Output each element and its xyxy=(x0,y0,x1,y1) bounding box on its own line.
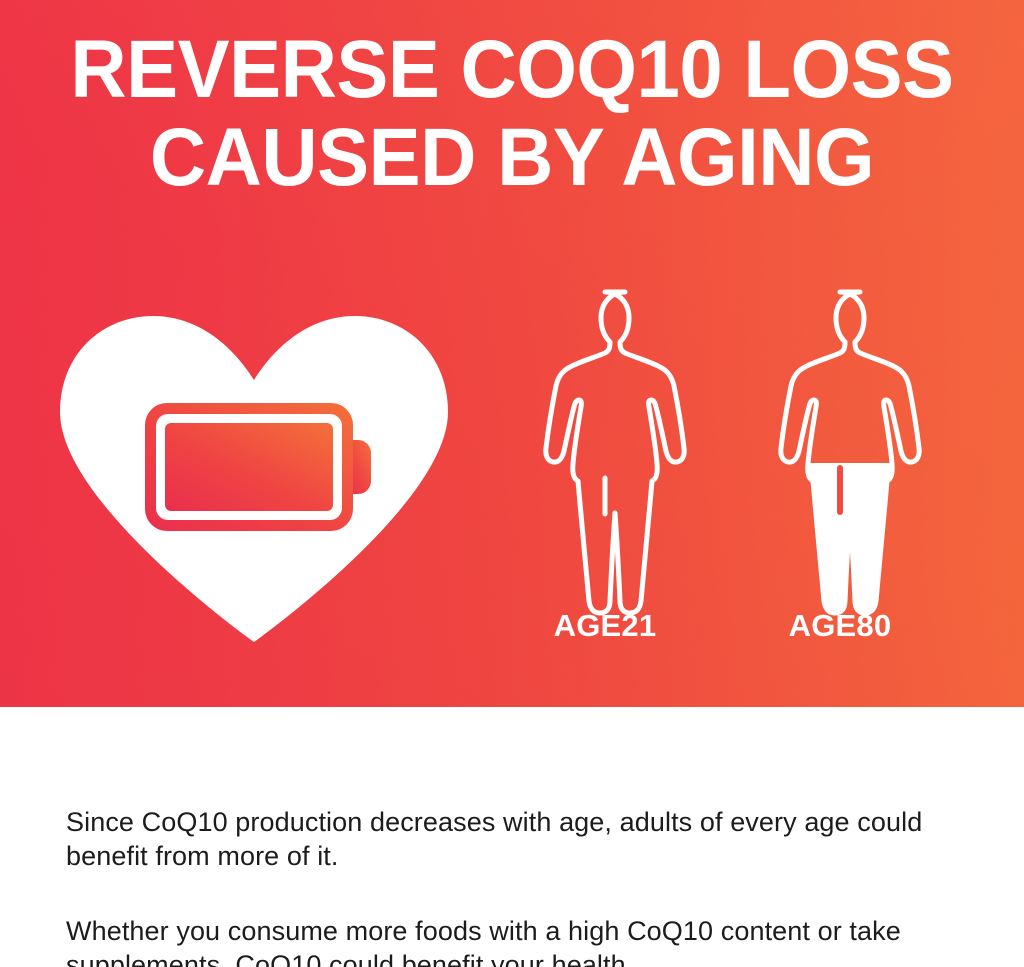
body-paragraph-2: Whether you consume more foods with a hi… xyxy=(66,914,972,967)
body-copy-section: Since CoQ10 production decreases with ag… xyxy=(0,707,1024,967)
title-line-1: REVERSE COQ10 LOSS xyxy=(26,26,999,114)
page-title: REVERSE COQ10 LOSS CAUSED BY AGING xyxy=(0,26,1024,202)
heart-with-low-battery-icon xyxy=(52,308,456,642)
body-outline-21 xyxy=(546,292,684,613)
age-comparison-figures: AGE21 xyxy=(500,282,960,662)
figure-label-age-80: AGE80 xyxy=(745,608,935,644)
body-outline-80 xyxy=(781,292,919,613)
figure-age-21: AGE21 xyxy=(510,282,700,662)
low-battery-icon xyxy=(145,403,371,531)
body-paragraph-1: Since CoQ10 production decreases with ag… xyxy=(66,805,972,873)
title-line-2: CAUSED BY AGING xyxy=(26,114,999,202)
figure-label-age-21: AGE21 xyxy=(510,608,700,644)
hero-panel: REVERSE COQ10 LOSS CAUSED BY AGING xyxy=(0,0,1024,707)
figure-age-80: AGE80 xyxy=(745,282,935,662)
coq10-infographic: REVERSE COQ10 LOSS CAUSED BY AGING xyxy=(0,0,1024,967)
